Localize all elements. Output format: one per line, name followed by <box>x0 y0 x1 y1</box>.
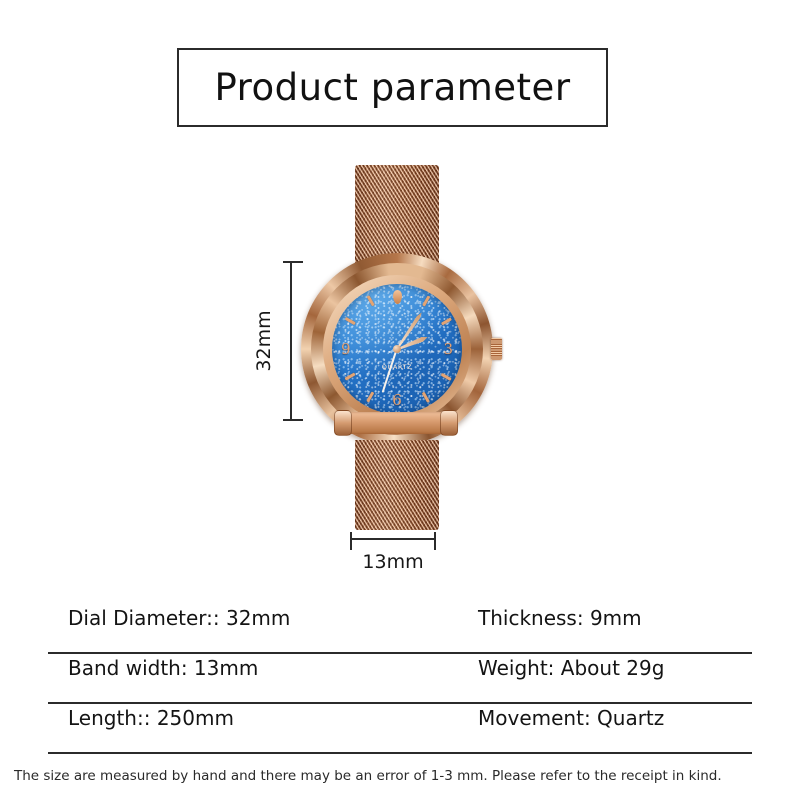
spec-length: Length:: 250mm <box>48 704 478 730</box>
title-box: Product parameter <box>177 48 608 127</box>
dial-tick-4 <box>441 373 452 381</box>
page-title: Product parameter <box>214 66 570 109</box>
dimension-line-horizontal <box>351 538 435 540</box>
dial-tick-11 <box>367 296 375 307</box>
spec-movement: Movement: Quartz <box>478 704 664 730</box>
dial-brand-text: QUARTZ <box>382 363 412 371</box>
dimension-line-vertical <box>290 262 292 420</box>
spec-weight: Weight: About 29g <box>478 654 664 680</box>
dimension-cap-top <box>283 261 303 263</box>
dimension-label-diameter: 32mm <box>253 310 275 371</box>
dimension-cap-left <box>350 532 352 550</box>
watch-hands-center-cap <box>393 345 401 353</box>
dial-numeral-9: 9 <box>341 340 351 358</box>
dial-tick-1 <box>422 296 430 307</box>
table-row: Length:: 250mm Movement: Quartz <box>48 704 752 754</box>
watch-dial: 3 6 9 QUARTZ <box>332 284 462 414</box>
dial-marker-12 <box>393 290 402 304</box>
dial-tick-7 <box>367 392 375 403</box>
table-row: Band width: 13mm Weight: About 29g <box>48 654 752 704</box>
dial-tick-5 <box>422 392 430 403</box>
product-image: 3 6 9 QUARTZ <box>255 150 545 570</box>
dimension-cap-right <box>434 532 436 550</box>
dial-tick-2 <box>441 317 452 325</box>
dimension-label-band-width: 13mm <box>362 551 423 573</box>
spec-table: Dial Diameter:: 32mm Thickness: 9mm Band… <box>48 604 752 754</box>
dimension-cap-bottom <box>283 419 303 421</box>
dial-numeral-3: 3 <box>443 340 453 358</box>
watch-crown <box>491 338 502 360</box>
spec-band-width: Band width: 13mm <box>48 654 478 680</box>
watch-lug-bottom <box>347 412 447 434</box>
watch-lug-pin-bottom-left <box>334 410 352 436</box>
spec-dial-diameter: Dial Diameter:: 32mm <box>48 604 478 630</box>
watch-lug-pin-bottom-right <box>440 410 458 436</box>
watch-band-lower <box>355 440 439 530</box>
dial-tick-8 <box>345 373 356 381</box>
dial-numeral-6: 6 <box>392 391 402 409</box>
spec-thickness: Thickness: 9mm <box>478 604 642 630</box>
footer-disclaimer: The size are measured by hand and there … <box>14 768 789 784</box>
dial-tick-10 <box>345 317 356 325</box>
table-row: Dial Diameter:: 32mm Thickness: 9mm <box>48 604 752 654</box>
